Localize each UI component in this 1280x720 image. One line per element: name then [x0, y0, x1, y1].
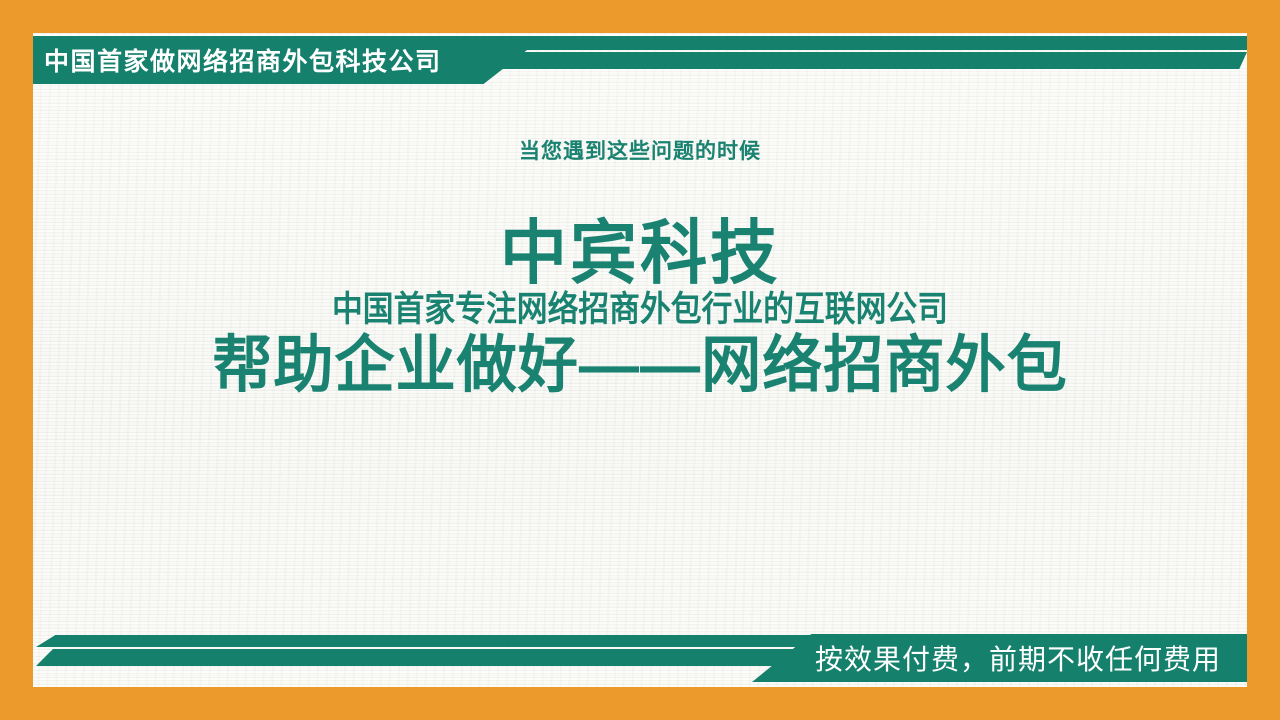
slide-canvas: 中国首家做网络招商外包科技公司 当您遇到这些问题的时候 中宾科技 中国首家专注网…	[0, 0, 1280, 720]
slide-content: 当您遇到这些问题的时候 中宾科技 中国首家专注网络招商外包行业的互联网公司 帮助…	[33, 141, 1247, 397]
footer-note-label: 按效果付费，前期不收任何费用	[815, 634, 1221, 682]
paper-background: 中国首家做网络招商外包科技公司 当您遇到这些问题的时候 中宾科技 中国首家专注网…	[33, 33, 1247, 687]
header-badge-label: 中国首家做网络招商外包科技公司	[44, 36, 442, 84]
headline-text: 帮助企业做好——网络招商外包	[51, 334, 1229, 397]
brand-title: 中宾科技	[57, 219, 1222, 288]
top-banner-strip-lower	[473, 52, 1247, 69]
top-banner-strip-upper	[473, 36, 1247, 50]
bottom-banner: 按效果付费，前期不收任何费用	[33, 634, 1247, 682]
tagline-text: 中国首家专注网络招商外包行业的互联网公司	[106, 292, 1174, 327]
eyebrow-text: 当您遇到这些问题的时候	[33, 141, 1247, 162]
top-banner: 中国首家做网络招商外包科技公司	[33, 36, 1247, 84]
